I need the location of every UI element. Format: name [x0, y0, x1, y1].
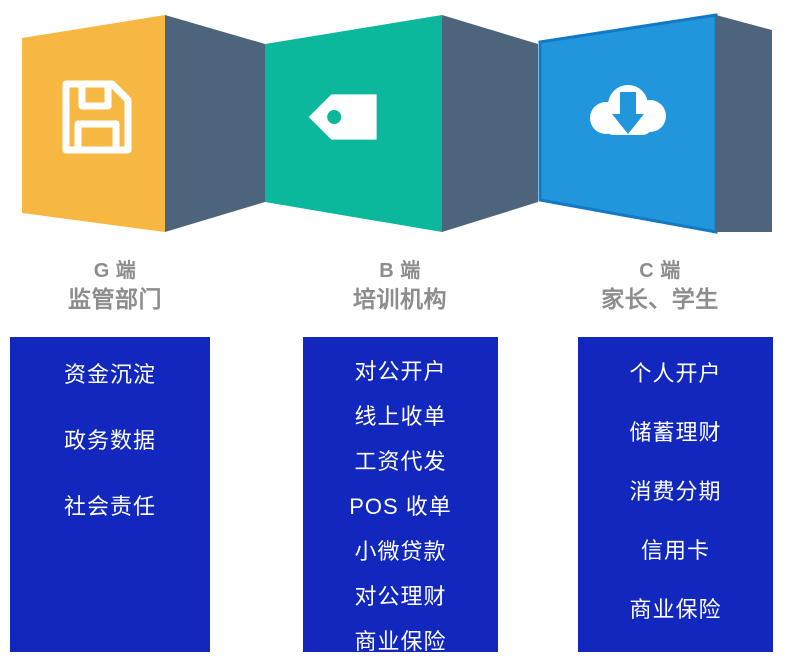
list-item: 消费分期 [629, 474, 721, 506]
panel-band [0, 0, 792, 250]
list-item: 社会责任 [64, 489, 156, 521]
panel-side-b-c [442, 15, 538, 232]
column-header-c: C 端 家长、学生 [530, 258, 790, 315]
column-code-c: C 端 [530, 258, 790, 284]
list-item: 信用卡 [641, 533, 710, 565]
column-header-b: B 端 培训机构 [270, 258, 530, 315]
list-item: 对公开户 [354, 354, 446, 386]
service-box-g: 资金沉淀 政务数据 社会责任 [10, 337, 210, 652]
list-item: 工资代发 [354, 444, 446, 476]
list-item: 储蓄理财 [629, 415, 721, 447]
column-name-b: 培训机构 [270, 284, 530, 314]
column-name-g: 监管部门 [0, 284, 245, 314]
panel-side-c-right [716, 15, 772, 232]
list-item: 线上收单 [354, 399, 446, 431]
list-item: 政务数据 [64, 423, 156, 455]
service-box-c: 个人开户 储蓄理财 消费分期 信用卡 商业保险 [578, 337, 773, 652]
column-name-c: 家长、学生 [530, 284, 790, 314]
column-header-g: G 端 监管部门 [0, 258, 245, 315]
service-box-b: 对公开户 线上收单 工资代发 POS 收单 小微贷款 对公理财 商业保险 [303, 337, 498, 652]
list-item: 商业保险 [354, 624, 446, 656]
column-code-b: B 端 [270, 258, 530, 284]
list-item: POS 收单 [349, 489, 452, 521]
list-item: 个人开户 [629, 356, 721, 388]
list-item: 资金沉淀 [64, 357, 156, 389]
panel-side-g-b [165, 15, 265, 232]
list-item: 对公理财 [354, 579, 446, 611]
column-code-g: G 端 [0, 258, 245, 284]
list-item: 商业保险 [629, 592, 721, 624]
list-item: 小微贷款 [354, 534, 446, 566]
